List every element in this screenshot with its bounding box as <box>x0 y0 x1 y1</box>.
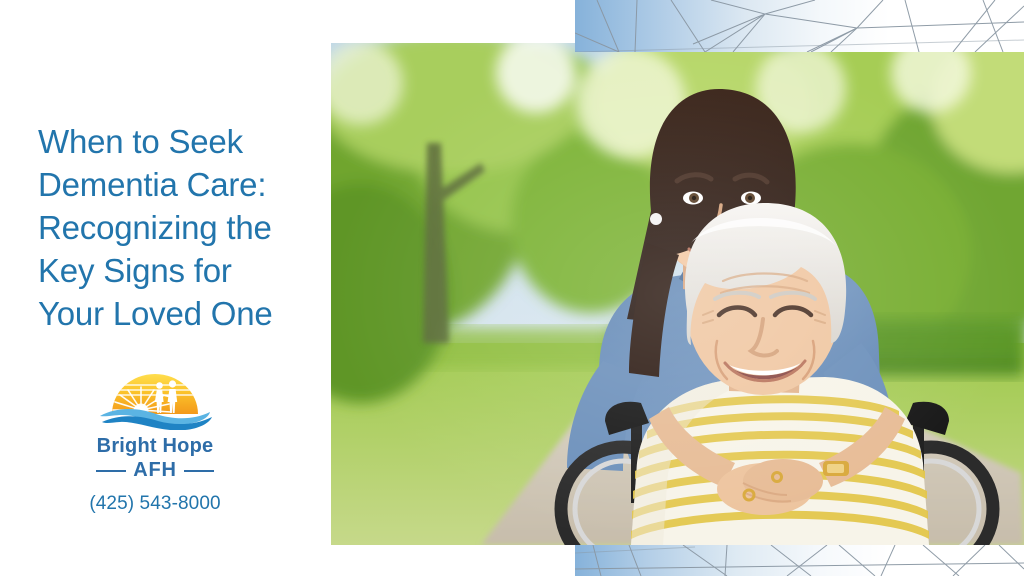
blog-banner: When to Seek Dementia Care: Recognizing … <box>0 0 1024 576</box>
logo-wordmark: Bright Hope <box>55 434 255 458</box>
logo-afh-row: AFH <box>55 459 255 482</box>
logo-rule-left <box>96 470 126 472</box>
logo-sub-wordmark: AFH <box>133 459 177 482</box>
brand-logo[interactable]: Bright Hope AFH (425) 543-8000 <box>55 368 255 515</box>
left-content-panel: When to Seek Dementia Care: Recognizing … <box>0 0 331 576</box>
sunrise-logo-icon <box>96 368 214 430</box>
page-title: When to Seek Dementia Care: Recognizing … <box>38 120 328 335</box>
contact-phone-number[interactable]: (425) 543-8000 <box>55 493 255 515</box>
decorative-pattern-bottom-right <box>575 545 1024 576</box>
hero-photo <box>331 43 1024 545</box>
logo-rule-right <box>184 470 214 472</box>
